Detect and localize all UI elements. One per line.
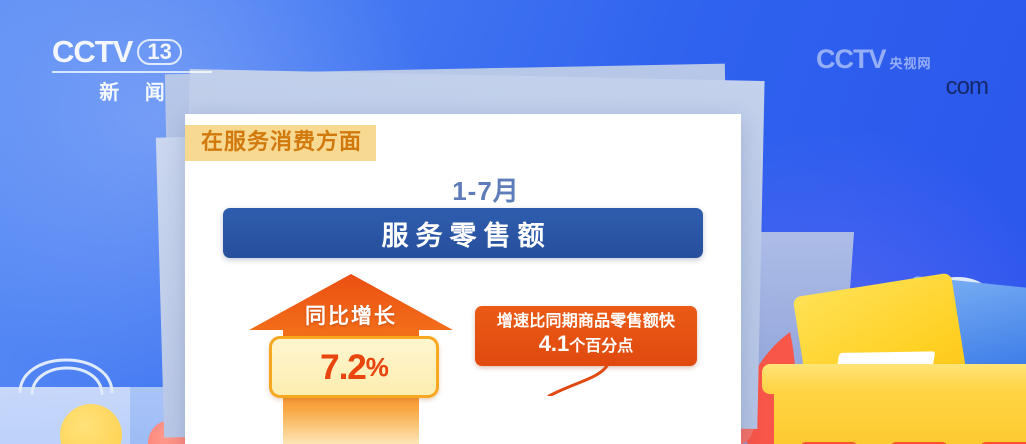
growth-value: 7.2 [320, 350, 366, 385]
infographic-stage: 在服务消费方面 1-7月 服务零售额 同比增长 7.2 % [0, 0, 1026, 444]
cctv13-logo: CCTV 13 新 闻 [52, 36, 212, 102]
basket-rim [762, 364, 1026, 394]
cctv13-number: 13 [137, 39, 181, 65]
callout-connector-icon [463, 306, 693, 396]
section-tag: 在服务消费方面 [185, 125, 376, 161]
growth-arrow: 同比增长 7.2 % [247, 274, 455, 444]
growth-value-box: 7.2 % [269, 336, 439, 398]
main-content-card: 在服务消费方面 1-7月 服务零售额 同比增长 7.2 % [185, 114, 741, 444]
growth-label: 同比增长 [247, 300, 455, 330]
comparison-callout: 增速比同期商品零售额快 4.1个百分点 [463, 306, 693, 396]
cctvcom-name: CCTV [816, 46, 886, 73]
cctvcom-chinese: 央视网 [890, 57, 932, 70]
shopping-basket-illustration [752, 250, 1026, 444]
cctvcom-domain: com [946, 73, 988, 101]
growth-unit: % [366, 354, 388, 380]
period-label: 1-7月 [185, 171, 741, 208]
cctv-com-logo: CCTV 央视网 com [816, 46, 988, 88]
metric-banner: 服务零售额 [223, 208, 703, 258]
cctv13-name: CCTV [52, 36, 132, 67]
metric-banner-title: 服务零售额 [375, 214, 552, 253]
cctv13-subtitle: 新 闻 [52, 76, 212, 105]
